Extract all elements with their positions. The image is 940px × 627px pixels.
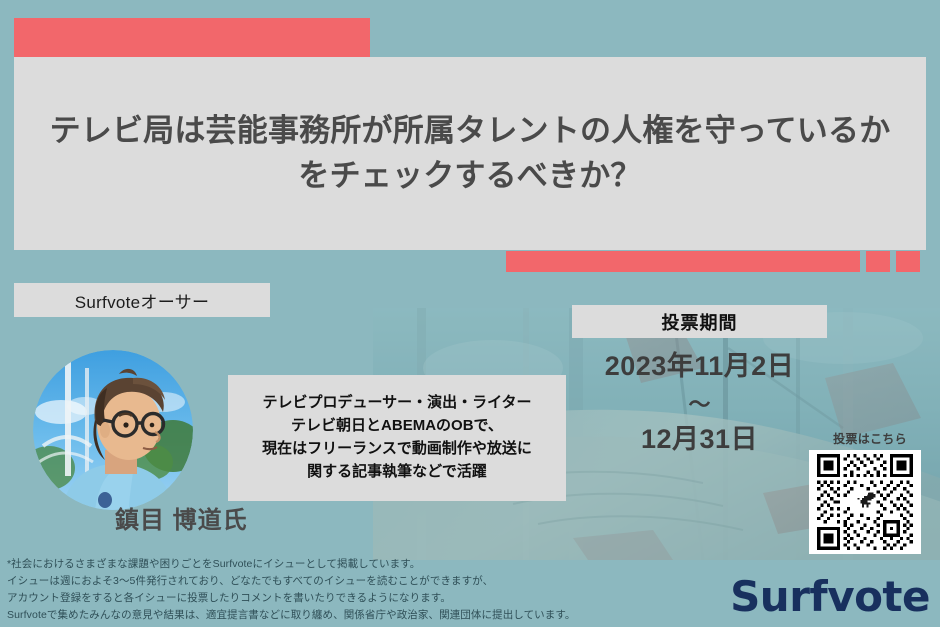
qr-code-icon bbox=[817, 454, 913, 550]
voting-period-start: 2023年11月2日 bbox=[572, 352, 827, 382]
author-bio-line-3: 現在はフリーランスで動画制作や放送に bbox=[262, 438, 532, 461]
top-red-accent-bar bbox=[14, 18, 370, 58]
red-accent-bar-small-1 bbox=[866, 251, 890, 272]
issue-title: テレビ局は芸能事務所が所属タレントの人権を守っているか をチェックするべきか？ bbox=[35, 109, 905, 199]
footer-line-2: イシューは週におよそ3〜5件発行されており、どなたでもすべてのイシューを読むこと… bbox=[7, 573, 707, 590]
qr-code[interactable] bbox=[809, 450, 921, 554]
voting-period-end: 12月31日 bbox=[572, 425, 827, 455]
footer-note: *社会におけるさまざまな課題や困りごとをSurfvoteにイシューとして掲載して… bbox=[7, 556, 707, 624]
issue-title-panel: テレビ局は芸能事務所が所属タレントの人権を守っているか をチェックするべきか？ bbox=[14, 57, 926, 250]
voting-period-label: 投票期間 bbox=[662, 309, 738, 335]
author-bio-line-2: テレビ朝日とABEMAのOBで、 bbox=[262, 415, 532, 438]
footer-line-3: アカウント登録をすると各イシューに投票したりコメントを書いたりできるようになりま… bbox=[7, 590, 707, 607]
author-badge: Surfvoteオーサー bbox=[14, 283, 270, 317]
author-portrait-illustration bbox=[33, 350, 193, 510]
red-accent-bar-main bbox=[506, 251, 860, 272]
surfvote-logo: Surfvote bbox=[730, 572, 930, 621]
author-bio-line-1: テレビプロデューサー・演出・ライター bbox=[262, 392, 532, 415]
poster-canvas: テレビ局は芸能事務所が所属タレントの人権を守っているか をチェックするべきか？ bbox=[0, 0, 940, 627]
red-accent-bar-small-2 bbox=[896, 251, 920, 272]
author-bio-text: テレビプロデューサー・演出・ライター テレビ朝日とABEMAのOBで、 現在はフ… bbox=[262, 392, 532, 483]
author-bio-line-4: 関する記事執筆などで活躍 bbox=[262, 461, 532, 484]
issue-title-line-2: をチェックするべきか？ bbox=[35, 154, 905, 199]
footer-line-1: *社会におけるさまざまな課題や困りごとをSurfvoteにイシューとして掲載して… bbox=[7, 556, 707, 573]
voting-period-badge: 投票期間 bbox=[572, 305, 827, 338]
footer-line-4: Surfvoteで集めたみんなの意見や結果は、適宜提言書などに取り纏め、関係省庁… bbox=[7, 607, 707, 624]
author-name: 鎮目 博道氏 bbox=[115, 500, 248, 535]
qr-caption: 投票はこちら bbox=[812, 430, 928, 447]
issue-title-line-1: テレビ局は芸能事務所が所属タレントの人権を守っているか bbox=[50, 113, 891, 148]
voting-period-separator: 〜 bbox=[572, 388, 827, 421]
author-badge-label: Surfvoteオーサー bbox=[75, 288, 210, 313]
author-bio-panel: テレビプロデューサー・演出・ライター テレビ朝日とABEMAのOBで、 現在はフ… bbox=[228, 375, 566, 501]
avatar bbox=[33, 350, 193, 510]
voting-period-dates: 2023年11月2日 〜 12月31日 bbox=[572, 352, 827, 454]
